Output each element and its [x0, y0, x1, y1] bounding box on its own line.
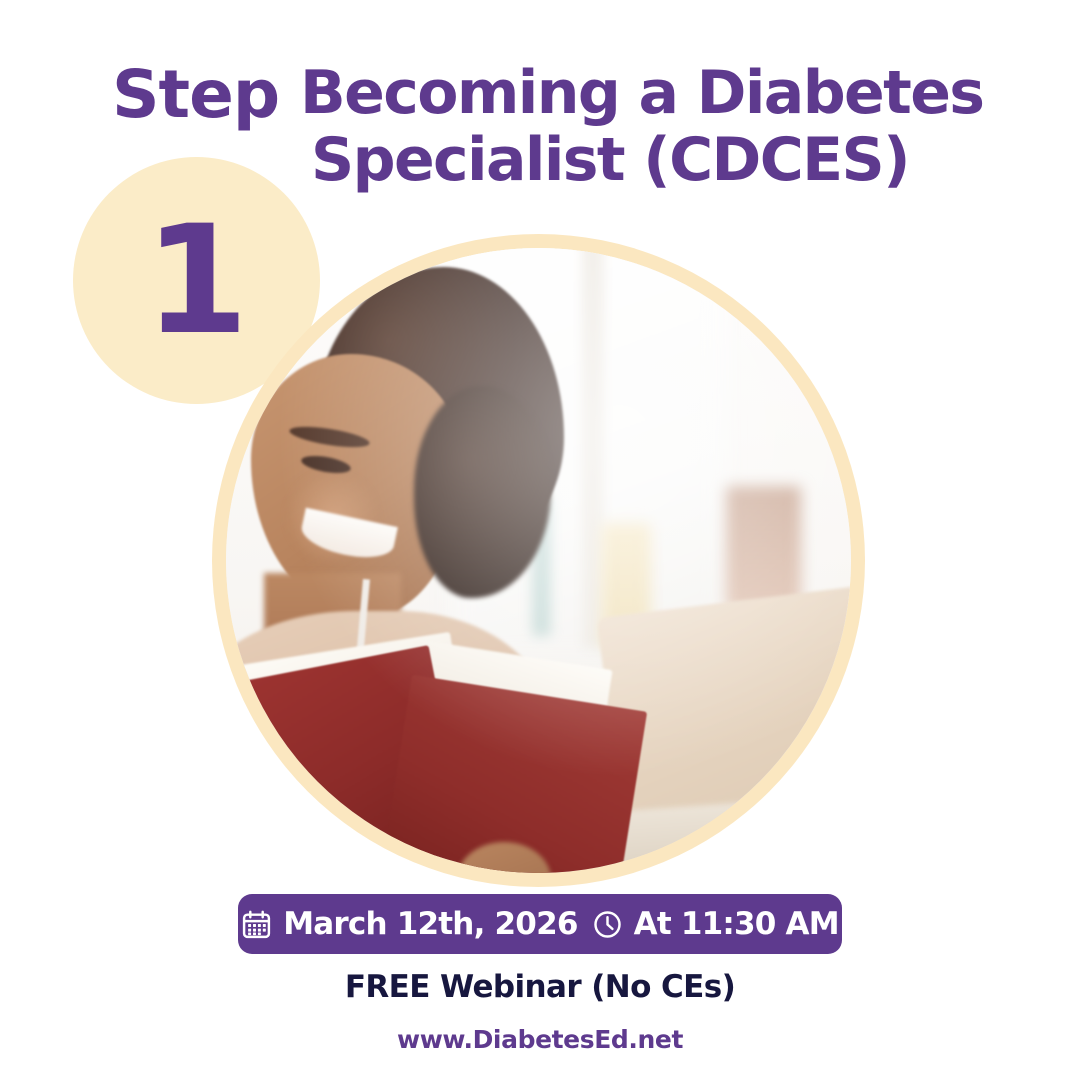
title-line-1: Becoming a Diabetes	[300, 60, 920, 127]
webinar-date: March 12th, 2026	[283, 909, 577, 940]
webinar-note: FREE Webinar (No CEs)	[0, 972, 1080, 1003]
date-group: March 12th, 2026	[241, 909, 577, 940]
clock-icon	[592, 909, 623, 940]
title-line-2: Specialist (CDCES)	[300, 127, 920, 194]
calendar-icon	[241, 909, 272, 940]
webinar-promo-poster: Step Becoming a Diabetes Specialist (CDC…	[0, 0, 1080, 1080]
page-title: Becoming a Diabetes Specialist (CDCES)	[300, 60, 920, 194]
hero-photo	[226, 248, 851, 873]
datetime-banner: March 12th, 2026 At 11:30 AM	[238, 894, 842, 954]
photo-picture-frame	[726, 486, 801, 611]
website-link[interactable]: www.DiabetesEd.net	[0, 1027, 1080, 1052]
time-group: At 11:30 AM	[592, 909, 839, 940]
poster-footer: FREE Webinar (No CEs) www.DiabetesEd.net	[0, 972, 1080, 1052]
step-label: Step	[112, 62, 279, 128]
hero-photo-ring	[212, 234, 865, 887]
hero-photo-scene	[226, 248, 851, 873]
webinar-time: At 11:30 AM	[634, 909, 839, 940]
